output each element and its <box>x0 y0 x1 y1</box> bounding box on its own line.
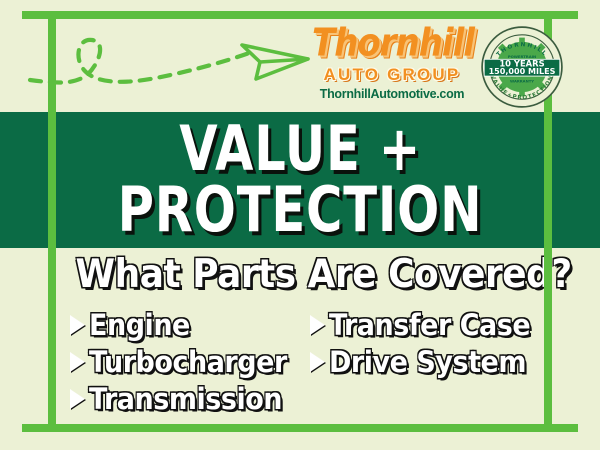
logo-subtitle: AUTO GROUP <box>312 66 472 83</box>
subheading: What Parts Are Covered? <box>76 252 525 298</box>
covered-parts-list: Engine Turbocharger Transmission Transfe… <box>60 306 540 418</box>
list-item-label: Engine <box>89 310 190 340</box>
headline-line-2: PROTECTION <box>118 179 483 241</box>
badge-miles-text: 150,000 MILES <box>489 67 556 76</box>
warranty-badge-icon: THORNHILL VALUE+PROTECTION POWERTRAIN 10… <box>480 25 564 109</box>
badge-small-bottom-text: WARRANTY <box>510 78 534 83</box>
list-item: Transfer Case <box>310 306 545 343</box>
frame-border-left <box>48 11 56 432</box>
headline-line-1: VALUE + <box>179 119 421 179</box>
headline: VALUE + PROTECTION <box>56 114 544 246</box>
list-item-label: Transfer Case <box>329 310 530 340</box>
triangle-bullet-icon <box>70 389 85 409</box>
thornhill-logo: Thornhill AUTO GROUP ThornhillAutomotive… <box>312 24 472 106</box>
triangle-bullet-icon <box>310 315 325 335</box>
covered-parts-column-right: Transfer Case Drive System <box>302 306 545 418</box>
list-item: Transmission <box>70 380 302 417</box>
frame-border-bottom <box>22 424 578 432</box>
logo-website: ThornhillAutomotive.com <box>312 88 472 101</box>
triangle-bullet-icon <box>310 352 325 372</box>
list-item: Turbocharger <box>70 343 302 380</box>
list-item-label: Turbocharger <box>89 347 287 377</box>
value-protection-banner: Thornhill AUTO GROUP ThornhillAutomotive… <box>0 0 600 450</box>
triangle-bullet-icon <box>70 315 85 335</box>
triangle-bullet-icon <box>70 352 85 372</box>
list-item: Drive System <box>310 343 545 380</box>
list-item: Engine <box>70 306 302 343</box>
list-item-label: Transmission <box>89 384 282 414</box>
covered-parts-column-left: Engine Turbocharger Transmission <box>60 306 302 418</box>
list-item-label: Drive System <box>329 347 526 377</box>
dashed-flight-path-icon <box>20 18 320 118</box>
logo-wordmark: Thornhill <box>312 24 472 62</box>
